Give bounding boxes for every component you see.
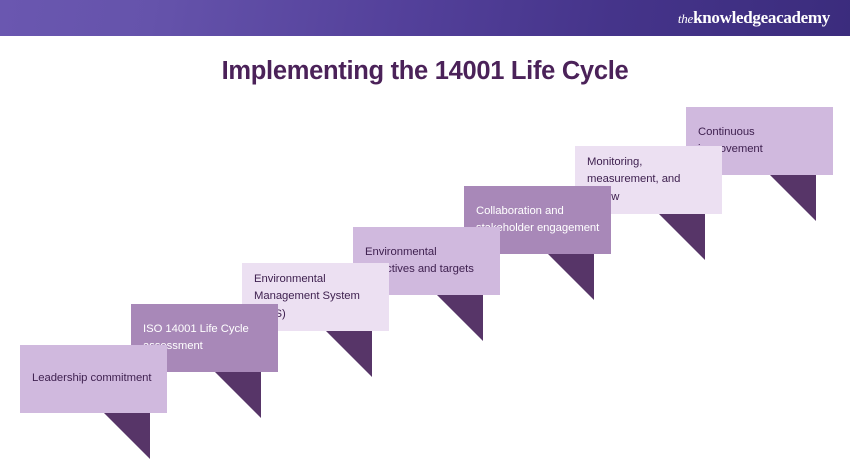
step-shadow-2 — [215, 372, 261, 418]
step-shadow-3 — [326, 331, 372, 377]
step-shadow-1 — [104, 413, 150, 459]
step-shadow-6 — [659, 214, 705, 260]
staircase-diagram: Continuous improvementMonitoring, measur… — [0, 0, 850, 450]
step-shadow-7 — [770, 175, 816, 221]
step-box-1[interactable]: Leadership commitment — [20, 345, 167, 413]
step-shadow-5 — [548, 254, 594, 300]
step-1[interactable]: Leadership commitment — [20, 345, 167, 413]
step-label-1: Leadership commitment — [20, 370, 163, 387]
step-shadow-4 — [437, 295, 483, 341]
